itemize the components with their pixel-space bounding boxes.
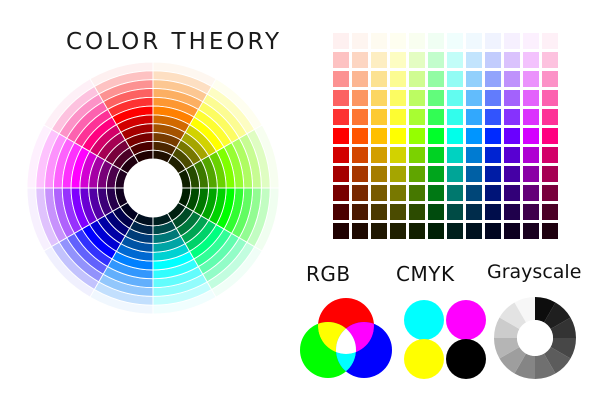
- swatch-blue-shade-3: [466, 185, 482, 201]
- swatch-violet-tint-5: [504, 33, 520, 49]
- swatch-blue-pure: [466, 128, 482, 144]
- swatch-indigo-shade-1: [485, 147, 501, 163]
- swatch-green-tint-5: [428, 33, 444, 49]
- swatch-violet-shade-4: [504, 204, 520, 220]
- swatch-teal-tint-4: [447, 52, 463, 68]
- swatch-indigo-pure: [485, 128, 501, 144]
- swatch-teal-tint-1: [447, 109, 463, 125]
- swatch-violet-shade-5: [504, 223, 520, 239]
- swatch-yellow-tint-3: [390, 71, 406, 87]
- swatch-green-shade-3: [428, 185, 444, 201]
- swatch-violet-tint-2: [504, 90, 520, 106]
- swatch-indigo-shade-3: [485, 185, 501, 201]
- swatch-blue-tint-5: [466, 33, 482, 49]
- swatch-red-shade-3: [333, 185, 349, 201]
- swatch-red-tint-1: [333, 109, 349, 125]
- swatch-purple-pure: [523, 128, 539, 144]
- swatch-orange-tint-1: [352, 109, 368, 125]
- rgb-label: RGB: [306, 262, 351, 286]
- swatch-purple-tint-2: [523, 90, 539, 106]
- swatch-orange-shade-4: [352, 204, 368, 220]
- swatch-yellow-shade-2: [390, 166, 406, 182]
- swatch-purple-shade-1: [523, 147, 539, 163]
- swatch-red-shade-4: [333, 204, 349, 220]
- swatch-blue-tint-1: [466, 109, 482, 125]
- swatch-teal-shade-4: [447, 204, 463, 220]
- swatch-blue-tint-2: [466, 90, 482, 106]
- swatch-yellow-green-pure: [409, 128, 425, 144]
- swatch-yellow-green-tint-5: [409, 33, 425, 49]
- swatch-red-tint-4: [333, 52, 349, 68]
- swatch-violet-tint-4: [504, 52, 520, 68]
- swatch-yellow-shade-3: [390, 185, 406, 201]
- magenta-circle: [446, 300, 486, 340]
- grayscale-center-hole: [517, 320, 553, 356]
- swatch-violet-shade-2: [504, 166, 520, 182]
- swatch-purple-tint-1: [523, 109, 539, 125]
- swatch-yellow-tint-4: [390, 52, 406, 68]
- swatch-yellow-green-shade-4: [409, 204, 425, 220]
- swatch-indigo-tint-5: [485, 33, 501, 49]
- swatch-amber-tint-3: [371, 71, 387, 87]
- swatch-magenta-tint-2: [542, 90, 558, 106]
- swatch-indigo-tint-2: [485, 90, 501, 106]
- swatch-amber-shade-5: [371, 223, 387, 239]
- swatch-yellow-green-tint-4: [409, 52, 425, 68]
- swatch-magenta-tint-1: [542, 109, 558, 125]
- swatch-purple-shade-2: [523, 166, 539, 182]
- swatch-yellow-green-tint-3: [409, 71, 425, 87]
- swatch-yellow-shade-5: [390, 223, 406, 239]
- swatch-yellow-green-shade-3: [409, 185, 425, 201]
- swatch-purple-tint-5: [523, 33, 539, 49]
- swatch-teal-tint-2: [447, 90, 463, 106]
- swatch-blue-tint-3: [466, 71, 482, 87]
- swatch-green-tint-4: [428, 52, 444, 68]
- swatch-violet-pure: [504, 128, 520, 144]
- swatch-green-shade-2: [428, 166, 444, 182]
- swatch-yellow-green-tint-2: [409, 90, 425, 106]
- swatch-teal-tint-5: [447, 33, 463, 49]
- color-wheel: [27, 62, 279, 314]
- swatch-indigo-shade-2: [485, 166, 501, 182]
- swatch-amber-pure: [371, 128, 387, 144]
- swatch-violet-tint-1: [504, 109, 520, 125]
- yellow-circle: [404, 339, 444, 379]
- swatch-orange-tint-2: [352, 90, 368, 106]
- swatch-green-tint-3: [428, 71, 444, 87]
- swatch-yellow-green-shade-5: [409, 223, 425, 239]
- swatch-red-tint-2: [333, 90, 349, 106]
- swatch-amber-tint-4: [371, 52, 387, 68]
- swatch-green-shade-5: [428, 223, 444, 239]
- swatch-magenta-shade-1: [542, 147, 558, 163]
- swatch-green-tint-1: [428, 109, 444, 125]
- swatch-yellow-green-shade-2: [409, 166, 425, 182]
- swatch-yellow-shade-1: [390, 147, 406, 163]
- swatch-orange-shade-2: [352, 166, 368, 182]
- swatch-magenta-shade-3: [542, 185, 558, 201]
- swatch-indigo-tint-4: [485, 52, 501, 68]
- swatch-yellow-green-shade-1: [409, 147, 425, 163]
- cmyk-label: CMYK: [396, 262, 455, 286]
- swatch-teal-shade-2: [447, 166, 463, 182]
- swatch-orange-shade-5: [352, 223, 368, 239]
- swatch-purple-shade-3: [523, 185, 539, 201]
- swatch-teal-tint-3: [447, 71, 463, 87]
- swatch-yellow-green-tint-1: [409, 109, 425, 125]
- swatch-orange-tint-5: [352, 33, 368, 49]
- swatch-red-tint-5: [333, 33, 349, 49]
- swatch-yellow-tint-1: [390, 109, 406, 125]
- swatch-blue-shade-1: [466, 147, 482, 163]
- page-title: COLOR THEORY: [66, 29, 282, 55]
- swatch-red-shade-5: [333, 223, 349, 239]
- swatch-grid: [333, 33, 558, 239]
- swatch-orange-shade-3: [352, 185, 368, 201]
- swatch-magenta-shade-2: [542, 166, 558, 182]
- swatch-orange-shade-1: [352, 147, 368, 163]
- swatch-indigo-tint-3: [485, 71, 501, 87]
- swatch-amber-tint-2: [371, 90, 387, 106]
- swatch-green-tint-2: [428, 90, 444, 106]
- swatch-red-shade-2: [333, 166, 349, 182]
- swatch-amber-shade-2: [371, 166, 387, 182]
- swatch-teal-shade-3: [447, 185, 463, 201]
- swatch-purple-tint-3: [523, 71, 539, 87]
- swatch-teal-pure: [447, 128, 463, 144]
- swatch-teal-shade-5: [447, 223, 463, 239]
- swatch-purple-shade-5: [523, 223, 539, 239]
- swatch-yellow-tint-5: [390, 33, 406, 49]
- swatch-yellow-pure: [390, 128, 406, 144]
- swatch-red-tint-3: [333, 71, 349, 87]
- swatch-amber-tint-1: [371, 109, 387, 125]
- swatch-red-pure: [333, 128, 349, 144]
- swatch-teal-shade-1: [447, 147, 463, 163]
- swatch-orange-tint-3: [352, 71, 368, 87]
- swatch-red-shade-1: [333, 147, 349, 163]
- cmyk-circles-diagram: [402, 299, 488, 379]
- swatch-violet-shade-1: [504, 147, 520, 163]
- swatch-purple-tint-4: [523, 52, 539, 68]
- swatch-orange-pure: [352, 128, 368, 144]
- swatch-green-shade-1: [428, 147, 444, 163]
- swatch-yellow-shade-4: [390, 204, 406, 220]
- swatch-blue-tint-4: [466, 52, 482, 68]
- swatch-indigo-shade-5: [485, 223, 501, 239]
- cyan-circle: [404, 300, 444, 340]
- swatch-amber-shade-4: [371, 204, 387, 220]
- swatch-amber-shade-3: [371, 185, 387, 201]
- swatch-magenta-pure: [542, 128, 558, 144]
- wheel-center-hole: [124, 159, 182, 217]
- grayscale-wheel: [493, 296, 577, 380]
- swatch-magenta-tint-5: [542, 33, 558, 49]
- swatch-violet-shade-3: [504, 185, 520, 201]
- swatch-blue-shade-2: [466, 166, 482, 182]
- grayscale-label: Grayscale: [487, 261, 581, 283]
- swatch-violet-tint-3: [504, 71, 520, 87]
- rgb-venn-diagram: [298, 296, 394, 380]
- swatch-amber-shade-1: [371, 147, 387, 163]
- swatch-green-shade-4: [428, 204, 444, 220]
- swatch-magenta-tint-3: [542, 71, 558, 87]
- swatch-green-pure: [428, 128, 444, 144]
- swatch-blue-shade-5: [466, 223, 482, 239]
- swatch-indigo-shade-4: [485, 204, 501, 220]
- swatch-yellow-tint-2: [390, 90, 406, 106]
- swatch-blue-shade-4: [466, 204, 482, 220]
- swatch-magenta-shade-5: [542, 223, 558, 239]
- swatch-magenta-tint-4: [542, 52, 558, 68]
- swatch-orange-tint-4: [352, 52, 368, 68]
- swatch-amber-tint-5: [371, 33, 387, 49]
- swatch-purple-shade-4: [523, 204, 539, 220]
- black-circle: [446, 339, 486, 379]
- swatch-magenta-shade-4: [542, 204, 558, 220]
- swatch-indigo-tint-1: [485, 109, 501, 125]
